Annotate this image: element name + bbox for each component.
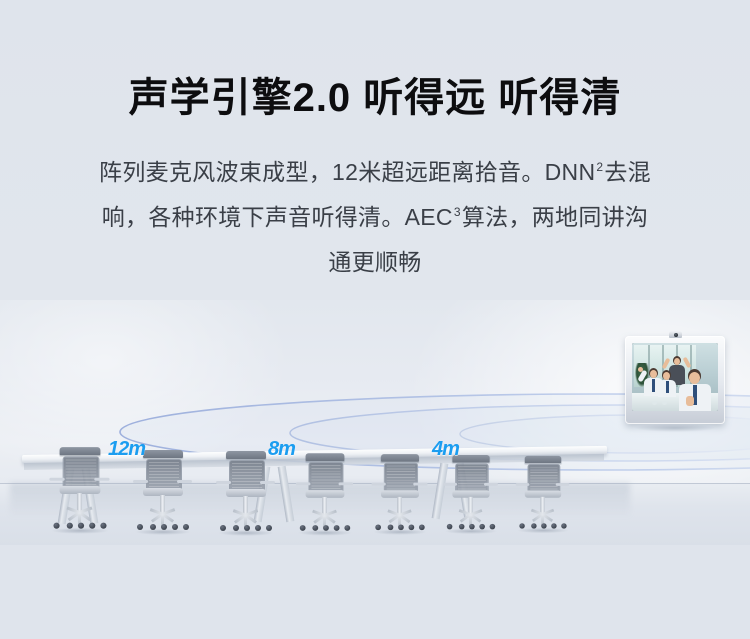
chair-back [63, 456, 100, 489]
chair-shadow [445, 528, 497, 534]
page-title: 声学引擎2.0 听得远 听得清 [0, 72, 750, 124]
feature-description: 阵列麦克风波束成型，12米超远距离拾音。DNN2去混 响，各种环境下声音听得清。… [30, 150, 720, 285]
office-chair [135, 450, 191, 536]
chair-armrest [296, 482, 311, 485]
chair-armrest [49, 478, 64, 481]
description-line-1-text-a: 阵列麦克风波束成型，12米超远距离拾音。DNN [99, 159, 595, 185]
description-line-2-text-a: 响，各种环境下声音听得清。AEC [102, 204, 453, 230]
product-feature-page: 声学引擎2.0 听得远 听得清 阵列麦克风波束成型，12米超远距离拾音。DNN2… [0, 0, 750, 639]
distance-marker-8m: 8m [268, 438, 295, 461]
chair-shadow [373, 529, 426, 535]
video-conference-display [625, 336, 725, 424]
chair-armrest [484, 483, 498, 486]
camera-icon [669, 331, 682, 338]
description-line-1-text-b: 去混 [604, 159, 651, 185]
chair-armrest [556, 483, 570, 486]
office-chair [298, 453, 352, 536]
office-chair [51, 447, 108, 535]
footnote-marker-2: 2 [595, 160, 604, 174]
chair-armrest [339, 482, 354, 485]
chair-armrest [516, 483, 530, 486]
chair-armrest [216, 481, 231, 484]
chair-headrest [525, 456, 561, 463]
chair-armrest [443, 483, 457, 486]
chair-armrest [413, 483, 427, 486]
chair-armrest [94, 478, 109, 481]
chair-shadow [135, 529, 191, 535]
chair-armrest [260, 481, 275, 484]
chair-armrest [372, 483, 386, 486]
chair-headrest [226, 451, 266, 459]
chair-shadow [218, 530, 274, 536]
chair-headrest [60, 447, 101, 455]
display-panel [632, 343, 718, 411]
chair-armrest [177, 480, 192, 483]
description-line-1: 阵列麦克风波束成型，12米超远距离拾音。DNN2去混 [30, 150, 720, 195]
chair-back [309, 462, 344, 493]
chair-shadow [518, 528, 569, 533]
office-chair [518, 456, 569, 534]
chair-back [455, 463, 488, 493]
office-chair [373, 454, 426, 536]
chair-shadow [298, 530, 352, 536]
display-shadow [635, 424, 715, 432]
description-line-2: 响，各种环境下声音听得清。AEC3算法，两地同讲沟 [30, 195, 720, 240]
chair-back [384, 463, 418, 493]
bottom-background [0, 545, 750, 639]
chair-shadow [51, 528, 108, 534]
chair-headrest [381, 454, 419, 462]
office-chair [218, 451, 274, 537]
footnote-marker-3: 3 [453, 205, 462, 219]
chair-back [229, 460, 265, 492]
distance-marker-4m: 4m [432, 438, 459, 461]
conference-room-illustration: 12m 8m 4m [0, 300, 750, 545]
description-line-2-text-b: 算法，两地同讲沟 [462, 204, 648, 230]
description-line-3: 通更顺畅 [30, 240, 720, 285]
chair-back [146, 459, 182, 491]
chair-armrest [133, 480, 148, 483]
video-call-image [632, 343, 718, 411]
distance-marker-12m: 12m [108, 438, 145, 461]
chair-back [528, 464, 561, 493]
office-chair [445, 455, 497, 535]
chair-headrest [306, 453, 345, 461]
chair-headrest [143, 450, 183, 458]
